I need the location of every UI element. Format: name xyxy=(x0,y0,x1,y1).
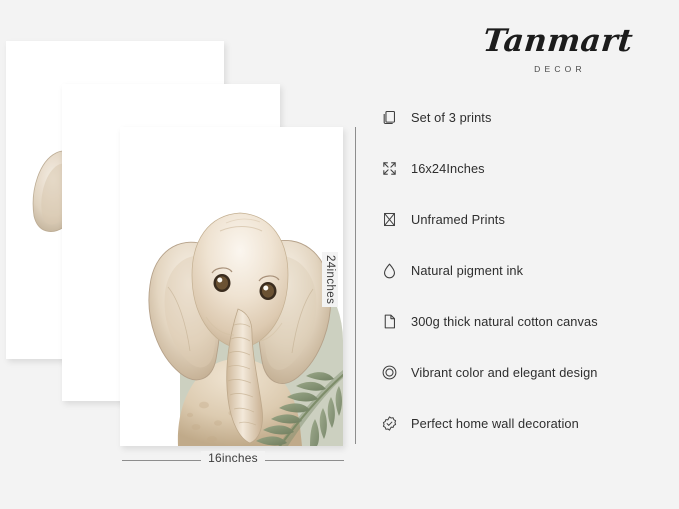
feature-item: 16x24Inches xyxy=(381,143,669,194)
double-circle-icon xyxy=(381,364,411,381)
feature-label: 300g thick natural cotton canvas xyxy=(411,314,598,329)
height-dimension-line xyxy=(355,127,356,444)
elephant-artwork-front xyxy=(120,127,343,446)
feature-item: Set of 3 prints xyxy=(381,92,669,143)
brand-subtitle: DECOR xyxy=(483,64,633,74)
feature-item: Perfect home wall decoration xyxy=(381,398,669,449)
feature-item: Natural pigment ink xyxy=(381,245,669,296)
check-badge-icon xyxy=(381,415,411,432)
feature-label: Vibrant color and elegant design xyxy=(411,365,598,380)
poster-stack: 24inches 16inches xyxy=(0,0,360,470)
height-dimension-label: 24inches xyxy=(322,252,338,307)
stacked-pages-icon xyxy=(381,109,411,126)
width-dimension-label: 16inches xyxy=(122,451,344,465)
feature-label: Natural pigment ink xyxy=(411,263,523,278)
feature-label: Set of 3 prints xyxy=(411,110,491,125)
width-dimension-text: 16inches xyxy=(201,451,265,465)
feature-item: Unframed Prints xyxy=(381,194,669,245)
no-frame-icon xyxy=(381,211,411,228)
expand-arrows-icon xyxy=(381,160,411,177)
feature-item: 300g thick natural cotton canvas xyxy=(381,296,669,347)
ink-drop-icon xyxy=(381,262,411,279)
feature-item: Vibrant color and elegant design xyxy=(381,347,669,398)
document-page-icon xyxy=(381,313,411,330)
brand-logo: Tanmart DECOR xyxy=(483,26,633,74)
feature-label: Perfect home wall decoration xyxy=(411,416,579,431)
poster-front xyxy=(120,127,343,446)
feature-list: Set of 3 prints 16x24Inches Unframed Pri… xyxy=(381,92,669,449)
feature-label: Unframed Prints xyxy=(411,212,505,227)
brand-name: Tanmart xyxy=(481,26,634,57)
feature-label: 16x24Inches xyxy=(411,161,485,176)
